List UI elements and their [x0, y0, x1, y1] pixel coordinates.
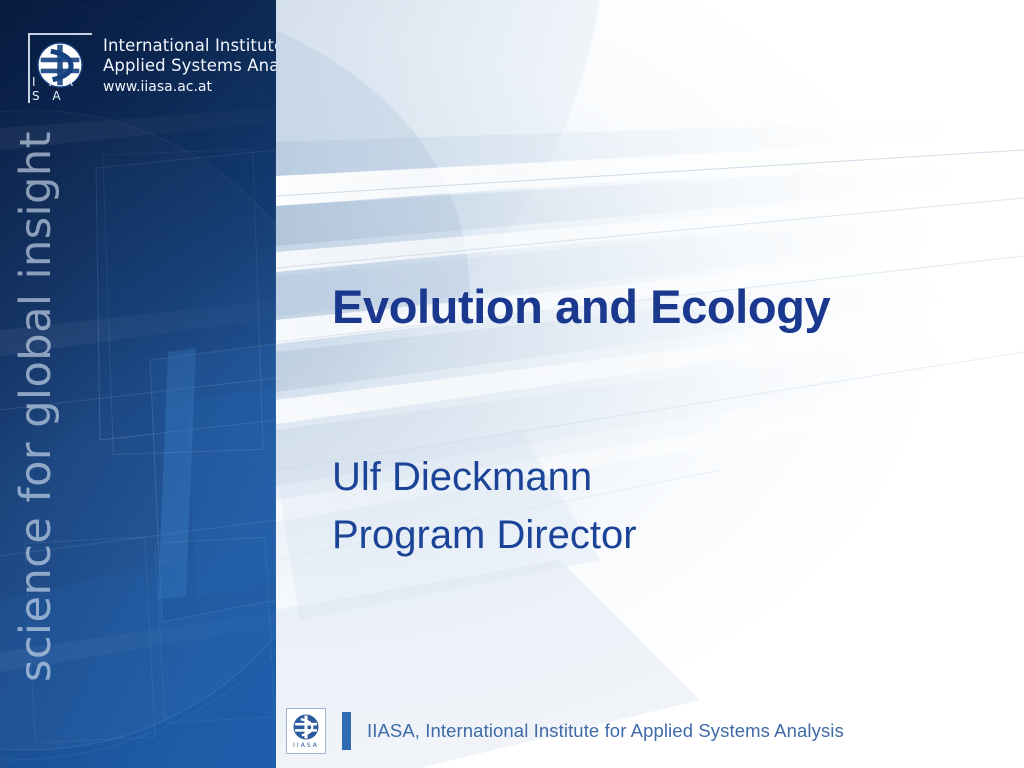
brand-wordmark: International Institute for Applied Syst…	[103, 36, 276, 97]
iiasa-globe-icon	[293, 714, 319, 740]
panel-shading-overlay	[0, 0, 276, 768]
footer-left-panel-spacer	[0, 694, 276, 768]
footer-accent-bar	[342, 712, 351, 750]
brand-line-1: International Institute for	[103, 36, 276, 56]
slide-subtitle: Ulf Dieckmann Program Director	[332, 448, 637, 564]
footer-brand-mark: IIASA	[286, 708, 326, 754]
presentation-slide: science for global insight I I A S A Int…	[0, 0, 1024, 768]
footer-organization-name: IIASA, International Institute for Appli…	[367, 720, 844, 742]
brand-acronym: I I A S A	[32, 75, 92, 103]
brand-mark: I I A S A	[28, 33, 92, 103]
left-brand-panel: science for global insight I I A S A Int…	[0, 0, 276, 768]
slide-title: Evolution and Ecology	[332, 279, 830, 334]
slide-footer: IIASA IIASA, International Institute for…	[276, 694, 1024, 768]
brand-line-2: Applied Systems Analysis	[103, 56, 276, 76]
subtitle-line-name: Ulf Dieckmann	[332, 448, 637, 506]
brand-url[interactable]: www.iiasa.ac.at	[103, 77, 276, 97]
iiasa-brand-lockup: I I A S A International Institute for Ap…	[28, 33, 276, 103]
subtitle-line-role: Program Director	[332, 506, 637, 564]
footer-brand-acronym: IIASA	[293, 742, 319, 749]
